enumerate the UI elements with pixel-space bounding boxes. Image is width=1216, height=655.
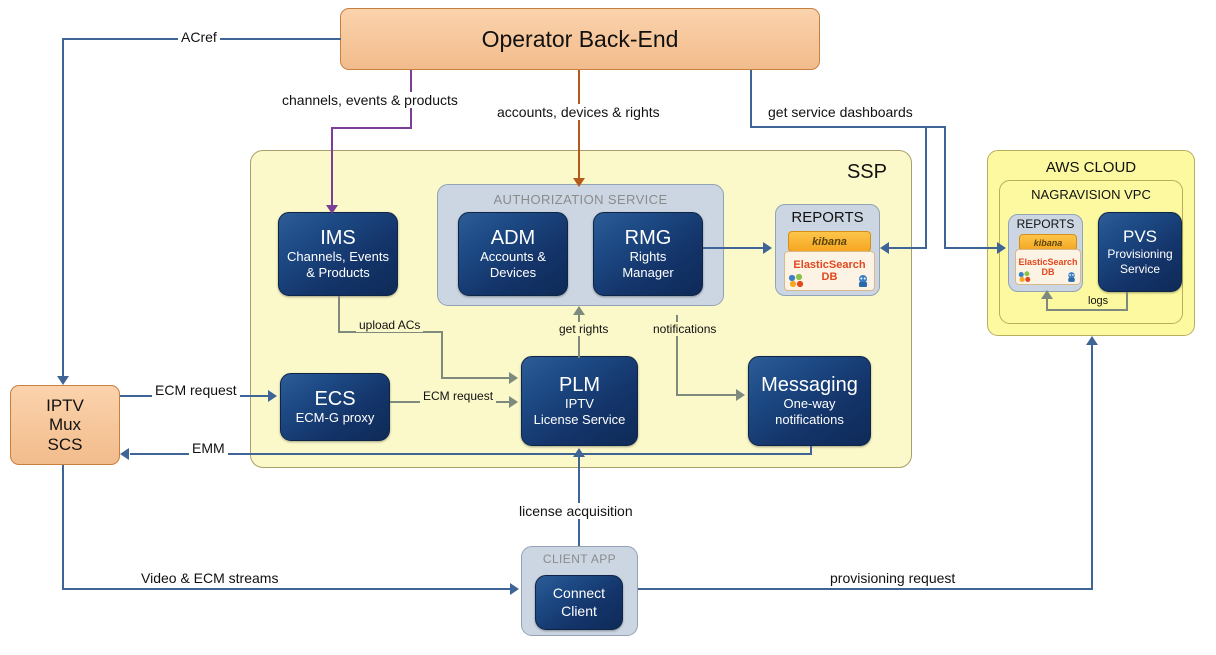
logstash-icon-aws: [1065, 271, 1078, 283]
edge-notifications-arrow: [736, 389, 745, 401]
edge-upload-acs-v2: [441, 331, 443, 378]
edge-channels-h: [331, 127, 412, 129]
edge-rmg-reports-h: [703, 247, 765, 249]
edge-channels-label: channels, events & products: [279, 92, 461, 108]
group-ssp-label: SSP: [847, 161, 887, 184]
edge-video-h: [62, 588, 512, 590]
adm-title: ADM: [491, 227, 535, 249]
edge-dashboards-label: get service dashboards: [765, 104, 916, 120]
node-iptv-mux-scs[interactable]: IPTV Mux SCS: [10, 385, 120, 465]
edge-get-rights-arrow: [573, 306, 585, 315]
edge-channels-v2: [331, 127, 333, 209]
group-authorization-service-label: AUTHORIZATION SERVICE: [438, 192, 723, 207]
group-client-app-label: CLIENT APP: [522, 552, 637, 566]
ims-sub1: Channels, Events: [287, 249, 389, 265]
cluster-nodes-icon: [788, 274, 804, 288]
edge-video-arrow: [510, 583, 519, 595]
edge-accounts-label: accounts, devices & rights: [494, 104, 663, 120]
node-operator-back-end[interactable]: Operator Back-End: [340, 8, 820, 70]
edge-logs-v2: [1046, 298, 1048, 310]
connect-client-line2: Client: [561, 603, 597, 621]
elasticsearch-logo-icon-aws: ElasticSearch DB: [1015, 249, 1081, 285]
elasticsearch-label-line1-aws: ElasticSearch: [1018, 257, 1077, 267]
edge-dashboards-v-drop: [750, 70, 752, 127]
node-connect-client[interactable]: Connect Client: [535, 575, 623, 630]
group-aws-cloud-label: AWS CLOUD: [988, 159, 1194, 176]
edge-license-arrow: [573, 448, 585, 457]
edge-license-label: license acquisition: [516, 503, 636, 519]
edge-dashboards-h-to-ssp: [889, 247, 927, 249]
edge-license-v: [578, 457, 580, 546]
edge-channels-arrow: [326, 205, 338, 214]
reports-ssp-label: REPORTS: [776, 209, 879, 226]
iptv-mux-scs-line1: IPTV: [46, 396, 84, 415]
edge-notifications-h: [676, 394, 738, 396]
ecs-sub1: ECM-G proxy: [296, 410, 375, 426]
edge-rmg-reports-arrow: [763, 242, 772, 254]
node-ims[interactable]: IMS Channels, Events & Products: [278, 212, 398, 296]
reports-card-aws: REPORTS kibana ElasticSearch DB: [1008, 214, 1083, 292]
elasticsearch-label-line1: ElasticSearch: [793, 259, 865, 271]
logstash-icon: [855, 274, 871, 288]
edge-emm-h: [130, 453, 812, 455]
edge-logs-label: logs: [1085, 295, 1111, 307]
edge-acref-label: ACref: [178, 29, 220, 45]
edge-logs-v1: [1126, 292, 1128, 310]
edge-ecm-left-arrow: [268, 390, 277, 402]
node-pvs[interactable]: PVS Provisioning Service: [1098, 212, 1182, 292]
edge-provisioning-v: [1091, 345, 1093, 589]
messaging-sub1: One-way: [783, 396, 835, 412]
edge-upload-acs-h2: [441, 377, 511, 379]
rmg-title: RMG: [625, 227, 672, 249]
edge-dashboards-arrow-ssp: [880, 242, 889, 254]
edge-ecm-mid-label: ECM request: [420, 389, 496, 403]
kibana-logo-icon: kibana: [788, 231, 871, 252]
edge-notifications-label: notifications: [650, 322, 719, 336]
iptv-mux-scs-line2: Mux: [49, 415, 81, 434]
node-rmg[interactable]: RMG Rights Manager: [593, 212, 703, 296]
ims-title: IMS: [320, 227, 356, 249]
edge-dashboards-h-top: [750, 126, 946, 128]
plm-title: PLM: [559, 374, 600, 396]
edge-acref-arrow: [57, 376, 69, 385]
pvs-sub2: Service: [1120, 262, 1160, 277]
ecs-title: ECS: [314, 388, 355, 410]
edge-emm-arrow: [120, 448, 129, 460]
messaging-sub2: notifications: [775, 412, 844, 428]
elasticsearch-label-line2: DB: [822, 271, 838, 283]
node-plm[interactable]: PLM IPTV License Service: [521, 356, 638, 446]
elasticsearch-label-line2-aws: DB: [1042, 267, 1055, 277]
edge-upload-acs-label: upload ACs: [356, 318, 423, 332]
edge-upload-acs-v1: [338, 296, 340, 332]
ims-sub2: & Products: [306, 265, 370, 281]
kibana-logo-text-aws: kibana: [1034, 238, 1063, 248]
edge-get-rights-label: get rights: [556, 322, 611, 336]
edge-provisioning-arrow: [1086, 336, 1098, 345]
operator-back-end-title: Operator Back-End: [482, 26, 679, 53]
edge-emm-label: EMM: [189, 440, 228, 456]
edge-video-v: [62, 465, 64, 589]
rmg-sub1: Rights: [630, 249, 667, 265]
reports-card-ssp: REPORTS kibana ElasticSearch DB: [775, 204, 880, 296]
node-messaging[interactable]: Messaging One-way notifications: [748, 356, 871, 446]
edge-video-label: Video & ECM streams: [138, 570, 281, 586]
edge-dashboards-h-to-aws: [944, 247, 999, 249]
edge-acref-v: [62, 38, 64, 377]
edge-logs-arrow: [1041, 290, 1053, 299]
pvs-title: PVS: [1123, 227, 1157, 246]
edge-provisioning-h: [638, 588, 1093, 590]
architecture-diagram: SSP AUTHORIZATION SERVICE AWS CLOUD NAGR…: [0, 0, 1216, 655]
plm-sub1: IPTV: [565, 396, 594, 412]
pvs-sub1: Provisioning: [1107, 247, 1172, 262]
plm-sub2: License Service: [534, 412, 626, 428]
rmg-sub2: Manager: [622, 265, 673, 281]
edge-upload-acs-arrow: [509, 372, 518, 384]
connect-client-line1: Connect: [553, 585, 605, 603]
kibana-logo-text: kibana: [812, 236, 847, 248]
edge-logs-h: [1046, 309, 1128, 311]
adm-sub1: Accounts &: [480, 249, 546, 265]
edge-provisioning-label: provisioning request: [827, 570, 958, 586]
node-ecs[interactable]: ECS ECM-G proxy: [280, 373, 390, 441]
messaging-title: Messaging: [761, 374, 858, 396]
adm-sub2: Devices: [490, 265, 536, 281]
edge-dashboards-v-right: [944, 126, 946, 248]
node-adm[interactable]: ADM Accounts & Devices: [458, 212, 568, 296]
edge-accounts-v: [578, 70, 580, 181]
reports-aws-label: REPORTS: [1009, 217, 1082, 231]
elasticsearch-logo-icon: ElasticSearch DB: [784, 251, 875, 291]
edge-dashboards-arrow-aws: [997, 242, 1006, 254]
edge-dashboards-v-left: [925, 126, 927, 248]
edge-accounts-arrow: [573, 178, 585, 187]
edge-ecm-mid-arrow: [509, 396, 518, 408]
group-nagravision-vpc-label: NAGRAVISION VPC: [1000, 187, 1182, 202]
iptv-mux-scs-line3: SCS: [48, 435, 83, 454]
cluster-nodes-icon-aws: [1018, 271, 1031, 283]
edge-ecm-left-label: ECM request: [152, 382, 240, 398]
